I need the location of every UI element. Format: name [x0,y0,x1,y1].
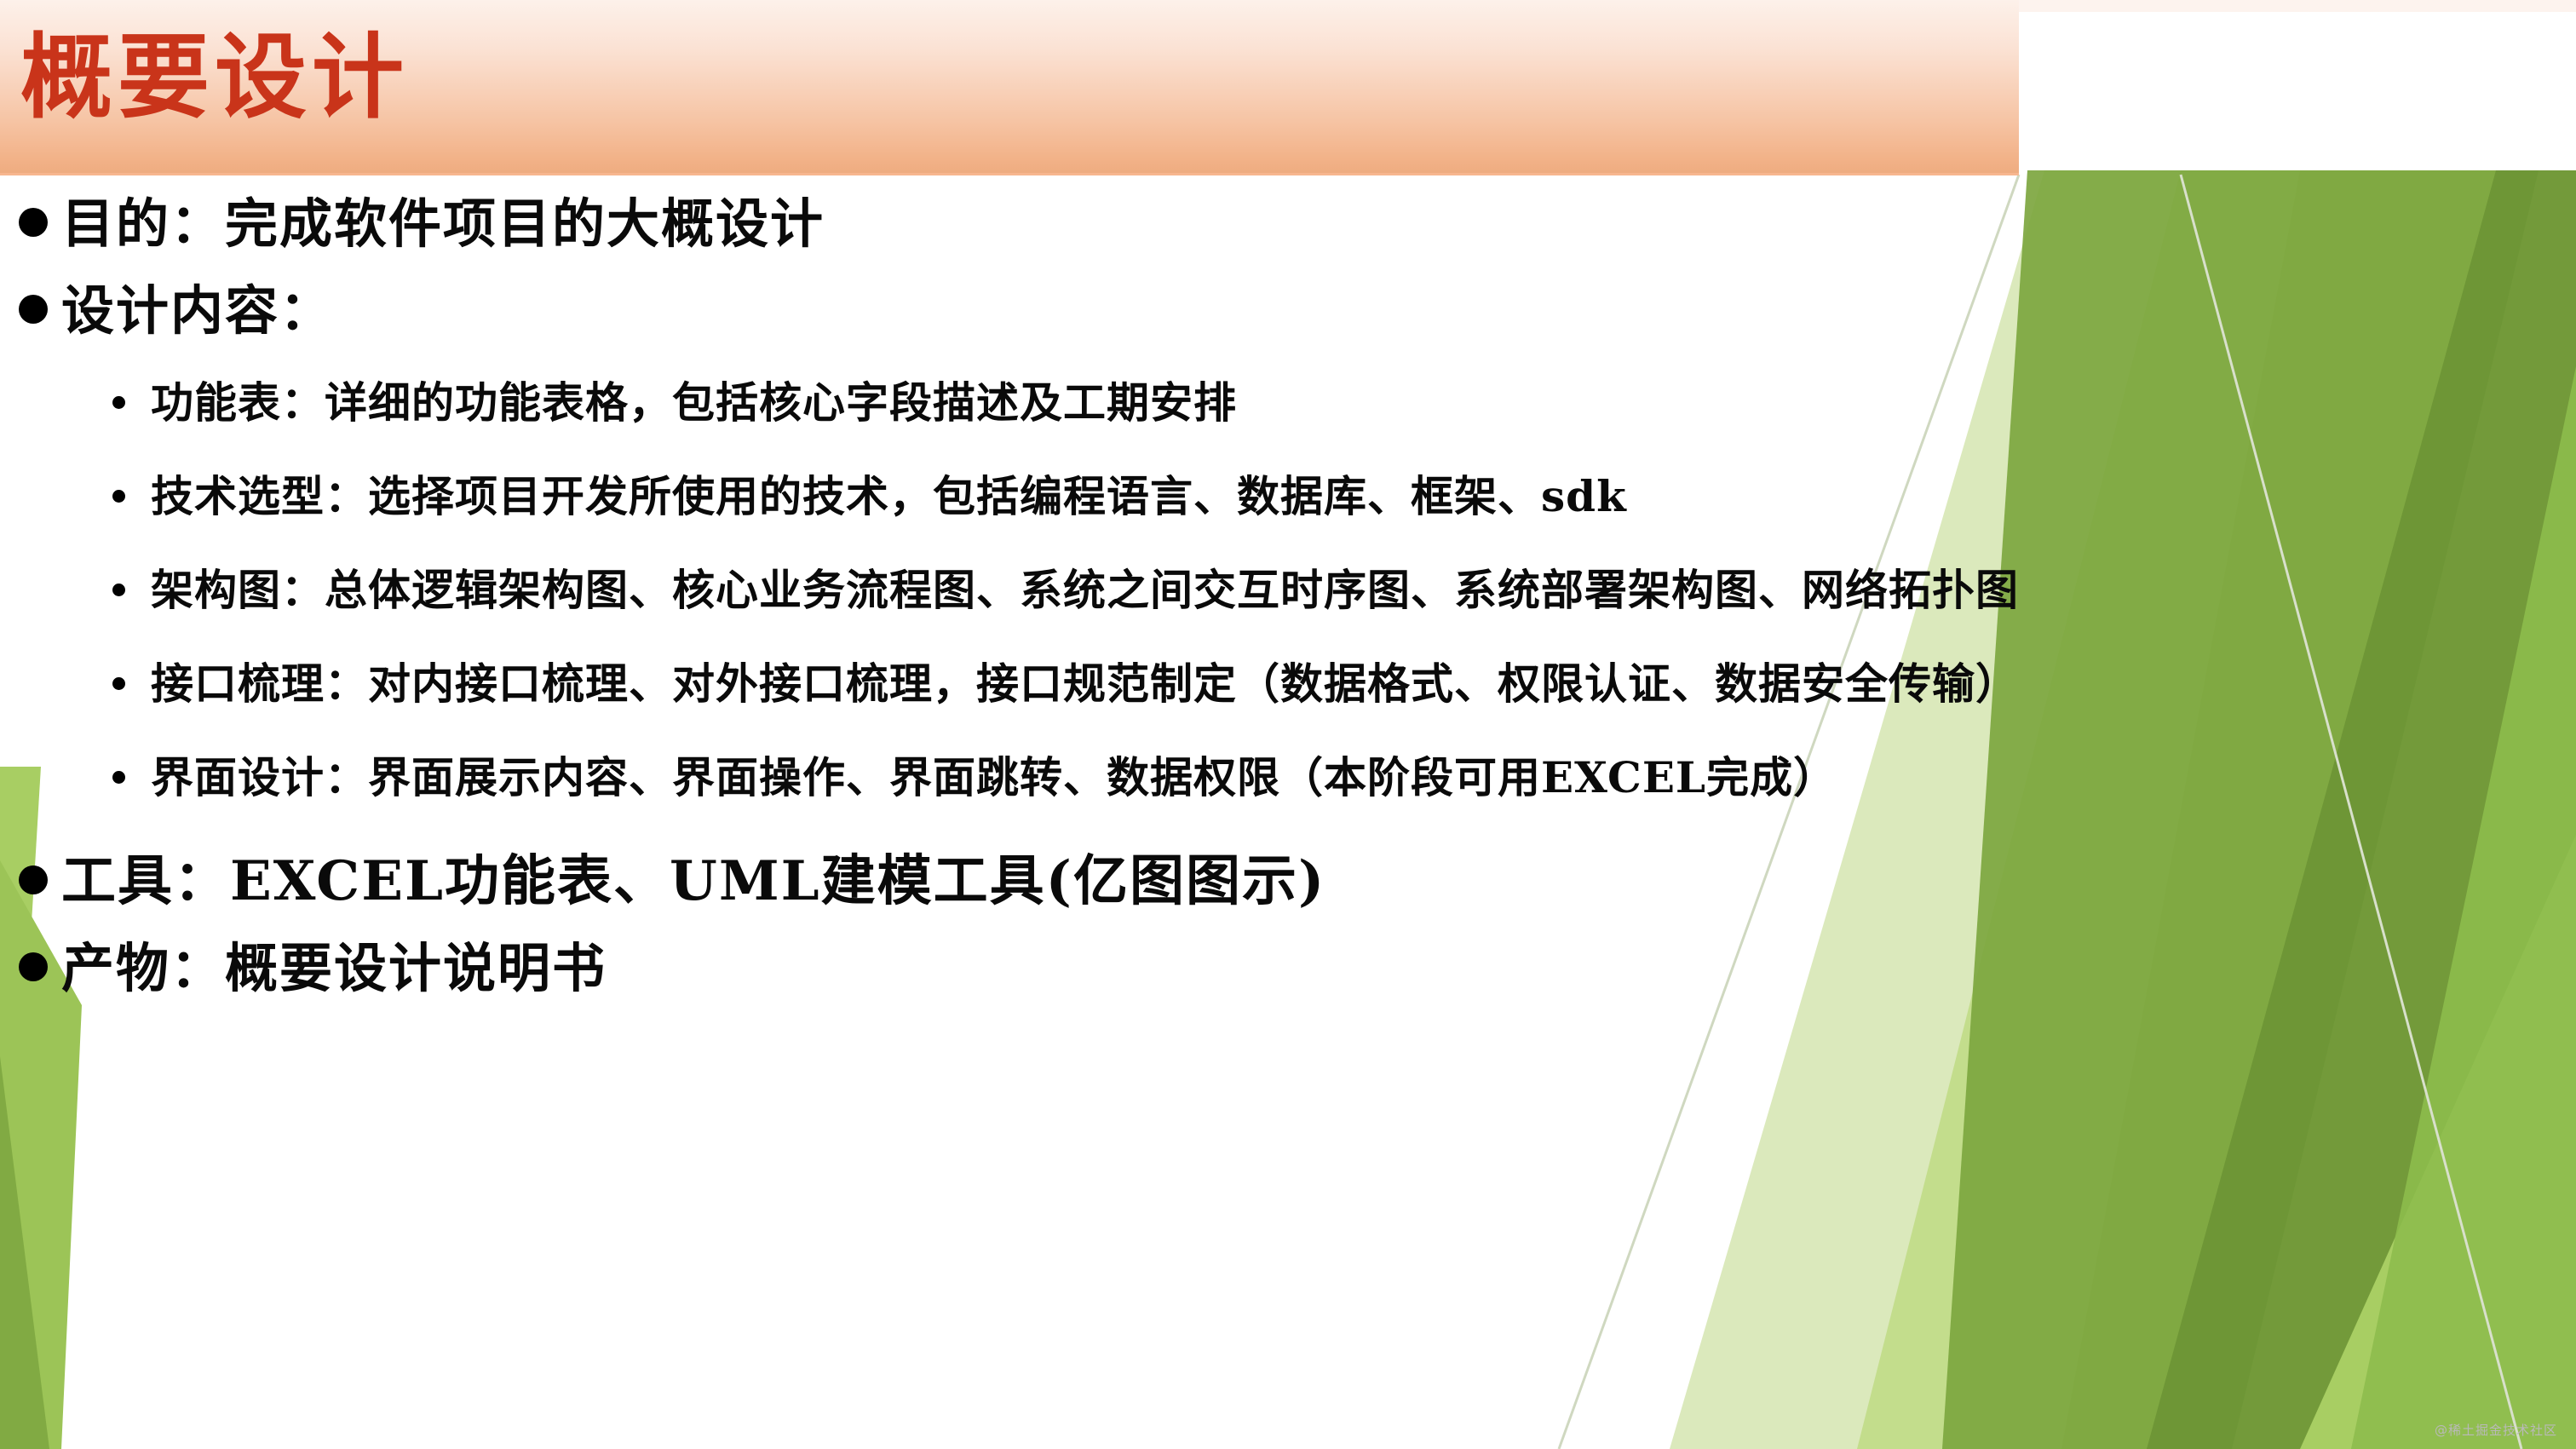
small-dot-icon [112,771,125,784]
filled-disc-icon [19,208,48,237]
filled-disc-icon [19,952,48,981]
slide-body: 目的：完成软件项目的大概设计 设计内容： 功能表：详细的功能表格，包括核心字段描… [0,183,2576,1015]
sub-bullet-item: 界面设计：界面展示内容、界面操作、界面跳转、数据权限（本阶段可用EXCEL完成） [0,733,2576,827]
bullet-text: 产物：概要设计说明书 [61,928,607,1009]
bullet-text: 目的：完成软件项目的大概设计 [61,183,825,265]
sub-bullet-text: 架构图：总体逻辑架构图、核心业务流程图、系统之间交互时序图、系统部署架构图、网络… [151,546,2019,635]
title-banner-right-tab [2019,0,2576,12]
small-dot-icon [112,677,125,690]
sub-bullet-list: 功能表：详细的功能表格，包括核心字段描述及工期安排 技术选型：选择项目开发所使用… [0,359,2576,827]
slide-canvas: 概要设计 目的：完成软件项目的大概设计 设计内容： 功能表：详细的功能表格，包括… [0,0,2576,1449]
sub-bullet-text: 接口梳理：对内接口梳理、对外接口梳理，接口规范制定（数据格式、权限认证、数据安全… [151,640,2019,728]
sub-bullet-item: 架构图：总体逻辑架构图、核心业务流程图、系统之间交互时序图、系统部署架构图、网络… [0,546,2576,640]
filled-disc-icon [19,295,48,324]
sub-bullet-item: 技术选型：选择项目开发所使用的技术，包括编程语言、数据库、框架、sdk [0,452,2576,546]
sub-bullet-item: 功能表：详细的功能表格，包括核心字段描述及工期安排 [0,359,2576,452]
bullet-text: 设计内容： [61,270,334,352]
sub-bullet-text: 界面设计：界面展示内容、界面操作、界面跳转、数据权限（本阶段可用EXCEL完成） [151,733,1837,822]
page-title: 概要设计 [20,14,409,141]
bullet-item: 工具：EXCEL功能表、UML建模工具(亿图图示) [0,841,2576,923]
small-dot-icon [112,396,125,409]
small-dot-icon [112,584,125,596]
bullet-item: 产物：概要设计说明书 [0,928,2576,1009]
filled-disc-icon [19,865,48,894]
bullet-item: 设计内容： [0,270,2576,352]
bullet-item: 目的：完成软件项目的大概设计 [0,183,2576,265]
small-dot-icon [112,490,125,503]
sub-bullet-text: 技术选型：选择项目开发所使用的技术，包括编程语言、数据库、框架、sdk [151,452,1627,541]
bullet-text: 工具：EXCEL功能表、UML建模工具(亿图图示) [61,841,1325,923]
decor-left-wedge-dark [0,1056,49,1449]
watermark-text: @稀土掘金技术社区 [2435,1421,2557,1439]
sub-bullet-item: 接口梳理：对内接口梳理、对外接口梳理，接口规范制定（数据格式、权限认证、数据安全… [0,640,2576,733]
sub-bullet-text: 功能表：详细的功能表格，包括核心字段描述及工期安排 [151,359,1237,447]
